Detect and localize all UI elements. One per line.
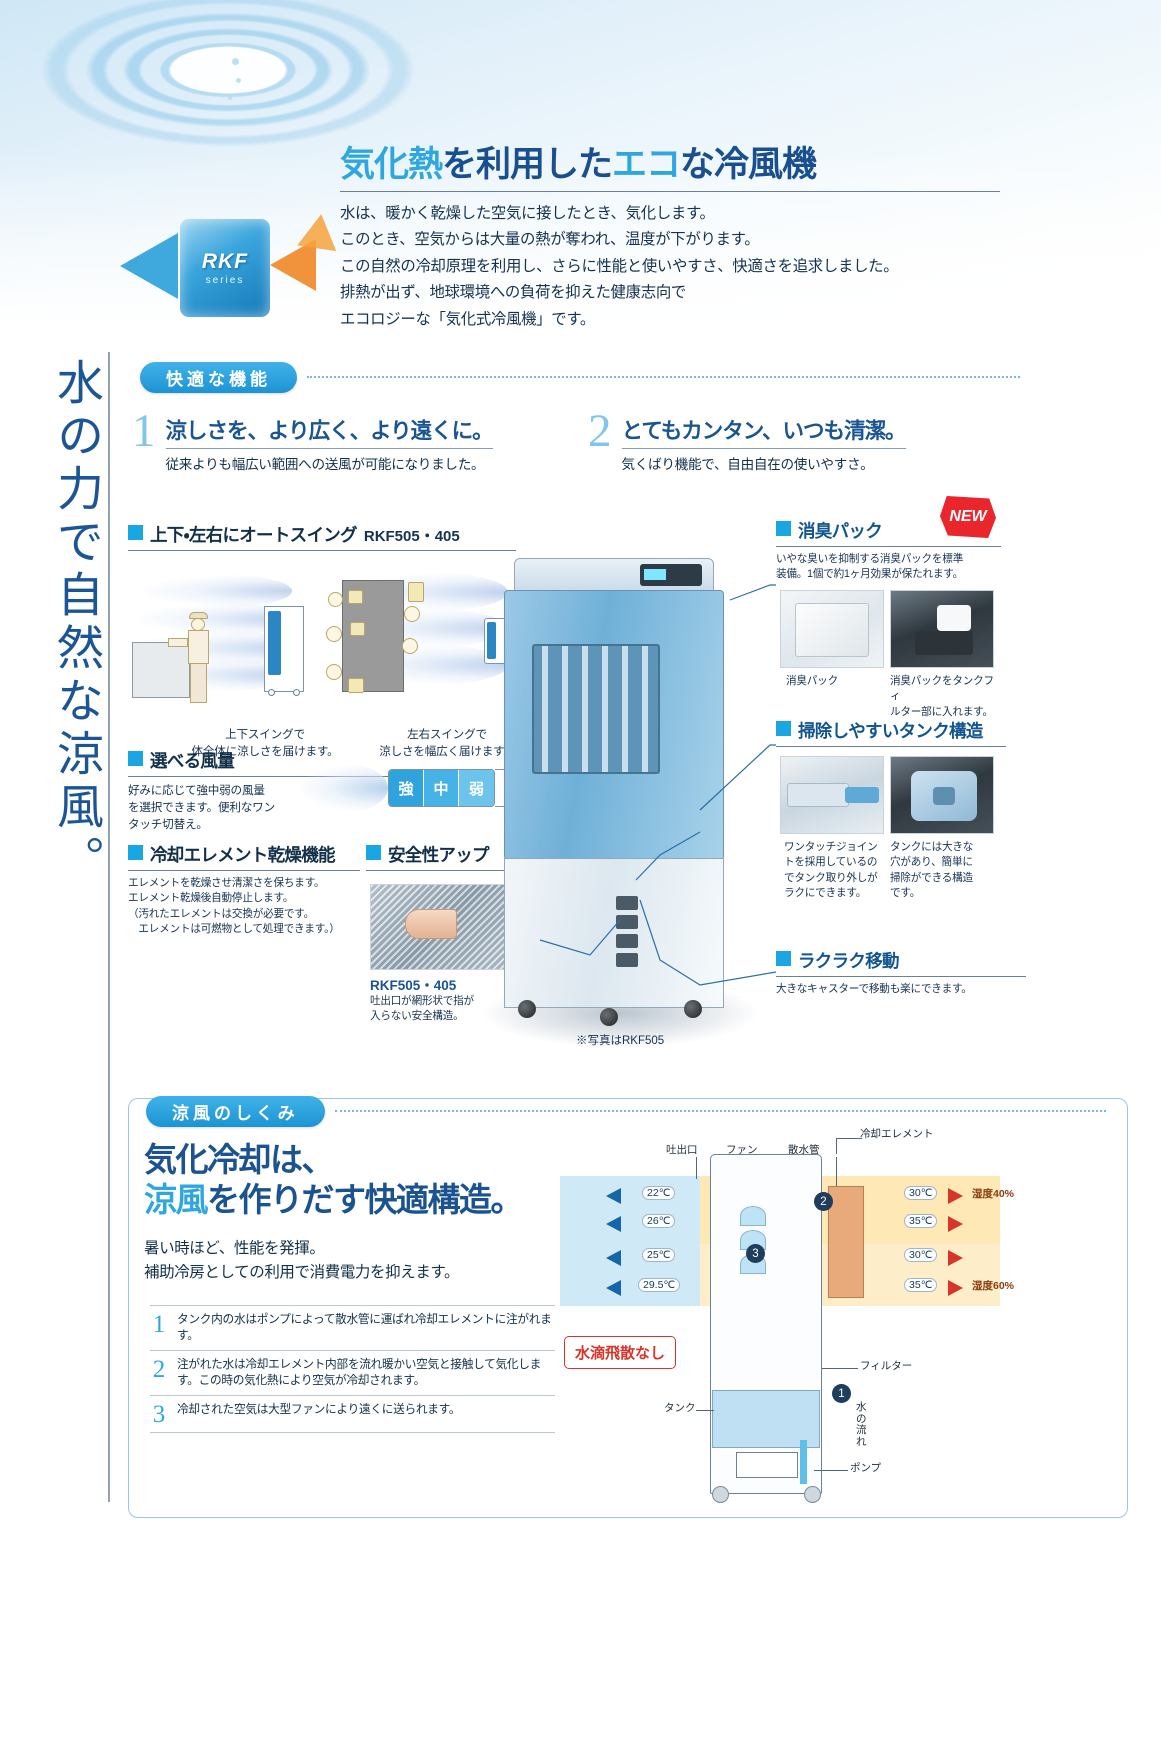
- feature-auto-swing: 上下・左右にオートスイング RKF505・405: [128, 522, 516, 551]
- warm-air-arrow: [948, 1250, 963, 1266]
- product-lower-body: [504, 858, 724, 1008]
- cool-air-arrow: [606, 1216, 621, 1232]
- feature-element-dry: 冷却エレメント乾燥機能 エレメントを乾燥させ清潔さを保ちます。 エレメント乾燥後…: [128, 842, 360, 937]
- feature-1-number: 1: [132, 412, 156, 473]
- mechanism-pill-label: 涼風のしくみ: [146, 1096, 325, 1127]
- fan-assembly: [736, 1206, 770, 1278]
- element-dry-body: エレメントを乾燥させ清潔さを保ちます。 エレメント乾燥後自動停止します。 （汚れ…: [128, 876, 360, 937]
- vertical-tagline: 水の力で自然な涼風。: [34, 358, 98, 978]
- mechanism-title: 気化冷却は、 涼風を作りだす快適構造。: [144, 1140, 564, 1221]
- warm-air-arrow: [948, 1280, 963, 1296]
- caption-line-1: タンクには大きな: [890, 840, 995, 855]
- water-pipe: [800, 1440, 807, 1484]
- cooler-unit-illustration: [264, 606, 304, 692]
- intake-temp-3: 30℃: [904, 1248, 937, 1262]
- ripple-dot: [236, 78, 241, 83]
- product-caster: [600, 1008, 618, 1026]
- blue-square-icon: [776, 951, 791, 966]
- circle-number-1: 1: [832, 1384, 851, 1403]
- cool-air-arrow: [606, 1250, 621, 1266]
- circle-number-3: 3: [746, 1244, 765, 1263]
- easy-move-body: 大きなキャスターで移動も楽にできます。: [776, 982, 1026, 997]
- tank-rule: [776, 746, 1006, 747]
- person-head-icon: [326, 626, 342, 642]
- mechanism-title-accent: 涼風: [144, 1181, 207, 1218]
- blue-arrow-icon: [120, 233, 178, 299]
- step-text: 注がれた水は冷却エレメント内部を流れ暖かい空気と接触して気化します。この時の気化…: [177, 1357, 555, 1390]
- leader-tick: [822, 1368, 858, 1369]
- step-text: 冷却された空気は大型ファンにより遠くに送られます。: [177, 1402, 460, 1418]
- safety-title: 安全性アップ: [388, 842, 489, 867]
- deodorizing-heading: 消臭パック: [776, 518, 1001, 543]
- numbered-feature-1: 1 涼しさを、より広く、より遠くに。 従来よりも幅広い範囲への送風が可能になりま…: [132, 412, 552, 473]
- tank-photo-caption-2: タンクには大きな 穴があり、簡単に 掃除ができる構造 です。: [890, 840, 995, 901]
- label-filter: フィルター: [860, 1358, 912, 1373]
- tank-joint-photo: [780, 756, 884, 834]
- body-line-1: 好みに応じて強中弱の風量: [128, 782, 313, 799]
- caption-line-1: 消臭パックをタンクフィ: [890, 674, 1000, 705]
- step-text: タンク内の水はポンプによって散水管に運ばれ冷却エレメントに注がれます。: [177, 1312, 555, 1345]
- intake-temp-4: 35℃: [904, 1278, 937, 1292]
- feature-1-subtitle: 従来よりも幅広い範囲への送風が可能になりました。: [166, 453, 493, 473]
- blue-square-icon: [128, 525, 143, 540]
- mechanism-lead-2: 補助冷房としての利用で消費電力を抑えます。: [144, 1261, 564, 1286]
- lead-line-3: この自然の冷却原理を利用し、さらに性能と使いやすさ、快適さを追求しました。: [340, 254, 1000, 280]
- label-tank: タンク: [664, 1400, 696, 1415]
- feature-1-underline: [166, 448, 493, 449]
- page-title: 気化熱を利用したエコな冷風機: [340, 136, 1000, 187]
- element-dry-rule: [128, 870, 360, 871]
- product-outlet-grill: [532, 644, 660, 774]
- body-line-1: いやな臭いを抑制する消臭パックを標準: [776, 552, 1001, 567]
- element-dry-heading: 冷却エレメント乾燥機能: [128, 842, 360, 867]
- person-head-icon: [326, 664, 342, 680]
- cooling-element: [828, 1186, 864, 1298]
- tank-title: 掃除しやすいタンク構造: [798, 718, 983, 743]
- product-caster: [518, 1000, 536, 1018]
- humidity-40: 湿度40%: [972, 1186, 1014, 1201]
- easy-move-title: ラクラク移動: [798, 948, 899, 973]
- cutaway-diagram: 吐出口 ファン 散水管 冷却エレメント 22℃ 26℃ 25℃ 29.5℃ 30…: [560, 1140, 1120, 1505]
- title-part-1: 気化熱: [340, 145, 442, 184]
- step-item: 3 冷却された空気は大型ファンにより遠くに送られます。: [150, 1395, 555, 1433]
- pump-body: [736, 1452, 798, 1478]
- blue-square-icon: [776, 521, 791, 536]
- blue-square-icon: [128, 845, 143, 860]
- intake-temp-2: 35℃: [904, 1214, 937, 1228]
- numbered-feature-2: 2 とてもカンタン、いつも清潔。 気くばり機能で、自由自在の使いやすさ。: [588, 412, 1008, 473]
- deodorizing-rule: [776, 546, 1001, 547]
- control-display: [640, 564, 702, 586]
- step-number: 3: [150, 1402, 168, 1427]
- deodorizing-body: いやな臭いを抑制する消臭パックを標準 装備。1個で約1ヶ月効果が保たれます。: [776, 552, 1001, 583]
- deodorizing-title: 消臭パック: [798, 518, 882, 543]
- feature-easy-move: ラクラク移動 大きなキャスターで移動も楽にできます。: [776, 948, 1026, 997]
- leader-tick: [814, 1470, 848, 1471]
- caster-icon: [293, 689, 300, 696]
- mechanism-steps: 1 タンク内の水はポンプによって散水管に運ばれ冷却エレメントに注がれます。 2 …: [150, 1305, 555, 1433]
- feature-deodorizing-pack: 消臭パック いやな臭いを抑制する消臭パックを標準 装備。1個で約1ヶ月効果が保た…: [776, 518, 1001, 583]
- lead-line-2: このとき、空気からは大量の熱が奪われ、温度が下がります。: [340, 227, 1000, 253]
- product-caster: [684, 1000, 702, 1018]
- feature-1-title: 涼しさを、より広く、より遠くに。: [166, 414, 493, 445]
- wind-level-buttons[interactable]: 強 中 弱: [388, 769, 495, 807]
- label-water-flow: 水の流れ: [856, 1402, 870, 1448]
- no-drip-note: 水滴飛散なし: [564, 1336, 676, 1369]
- feature-2-title: とてもカンタン、いつも清潔。: [622, 414, 906, 445]
- leader-tick: [836, 1138, 862, 1139]
- caption-line-4: です。: [890, 886, 995, 901]
- feature-2-underline: [622, 448, 906, 449]
- mechanism-title-line-2: を作りだす快適構造。: [207, 1181, 522, 1218]
- blue-square-icon: [776, 721, 791, 736]
- caption-line-2: 穴があり、簡単に: [890, 855, 995, 870]
- step-item: 1 タンク内の水はポンプによって散水管に運ばれ冷却エレメントに注がれます。: [150, 1305, 555, 1350]
- caster-icon: [268, 689, 275, 696]
- feature-2-number: 2: [588, 412, 612, 473]
- chair-icon: [348, 678, 364, 693]
- auto-swing-title: 上下・左右にオートスイング: [150, 522, 357, 547]
- wind-volume-body: 好みに応じて強中弱の風量 を選択できます。便利なワン タッチ切替え。: [128, 782, 313, 833]
- warm-air-arrow: [948, 1188, 963, 1204]
- features-section-header: 快適な機能: [140, 362, 1020, 393]
- vertical-swing-illustration: [132, 568, 312, 718]
- body-line-4: エレメントは可燃物として処理できます。）: [128, 922, 360, 937]
- dotted-rule: [335, 1110, 1106, 1112]
- page-headline: 気化熱を利用したエコな冷風機 水は、暖かく乾燥した空気に接したとき、気化します。…: [340, 136, 1000, 333]
- outlet-temp-4: 29.5℃: [638, 1278, 680, 1292]
- body-line-2: 装備。1個で約1ヶ月効果が保たれます。: [776, 567, 1001, 582]
- lead-line-4: 排熱が出ず、地球環境への負荷を抑えた健康志向で: [340, 280, 1000, 306]
- series-label: series: [206, 275, 245, 286]
- product-photo: [488, 548, 748, 1058]
- cooler-outlet: [268, 611, 281, 675]
- easy-move-heading: ラクラク移動: [776, 948, 1026, 973]
- auto-swing-heading: 上下・左右にオートスイング RKF505・405: [128, 522, 516, 547]
- product-photo-note: ※写真はRKF505: [576, 1032, 664, 1048]
- worker-figure: [184, 612, 214, 704]
- dotted-rule: [307, 376, 1020, 378]
- rkf-chip: RKF series: [180, 219, 270, 317]
- step-number: 2: [150, 1357, 168, 1382]
- body-line-3: タッチ切替え。: [128, 816, 313, 833]
- title-divider: [340, 191, 1000, 192]
- diagram-caster: [712, 1486, 729, 1503]
- airflow-cone-icon: [302, 764, 388, 812]
- title-part-4: な冷風機: [680, 145, 816, 184]
- feature-2-subtitle: 気くばり機能で、自由自在の使いやすさ。: [622, 453, 906, 473]
- chair-icon: [408, 582, 424, 602]
- body-line-2: エレメント乾燥後自動停止します。: [128, 891, 360, 906]
- caption-line-2: トを採用しているの: [784, 855, 884, 870]
- tank-photo-caption-1: ワンタッチジョイン トを採用しているの でタンク取り外しが ラクにできます。: [784, 840, 884, 901]
- workbench: [132, 642, 190, 698]
- lead-line-1: 水は、暖かく乾燥した空気に接したとき、気化します。: [340, 201, 1000, 227]
- chair-icon: [348, 590, 363, 604]
- pack-insert-photo: [890, 590, 994, 668]
- mechanism-section-header: 涼風のしくみ: [146, 1096, 1106, 1127]
- label-element: 冷却エレメント: [860, 1126, 934, 1141]
- wind-level-strong[interactable]: 強: [389, 770, 424, 806]
- tank-heading: 掃除しやすいタンク構造: [776, 718, 1006, 743]
- mechanism-title-line-1: 気化冷却は、: [144, 1140, 564, 1180]
- intake-temp-1: 30℃: [904, 1186, 937, 1200]
- caption-line-1: ワンタッチジョイン: [784, 840, 884, 855]
- body-line-1: エレメントを乾燥させ清潔さを保ちます。: [128, 876, 360, 891]
- outlet-temp-2: 26℃: [642, 1214, 675, 1228]
- circle-number-2: 2: [814, 1192, 833, 1211]
- chair-icon: [350, 622, 365, 636]
- lead-line-5: エコロジーな「気化式冷風機」です。: [340, 307, 1000, 333]
- auto-swing-model: RKF505・405: [364, 525, 460, 546]
- caption-line-3: 掃除ができる構造: [890, 871, 995, 886]
- diagram-caster: [804, 1486, 821, 1503]
- caption-line-3: でタンク取り外しが: [784, 871, 884, 886]
- caption-line-4: ラクにできます。: [784, 886, 884, 901]
- blue-square-icon: [366, 845, 381, 860]
- label-outlet: 吐出口: [666, 1142, 698, 1157]
- title-part-2: を利用した: [442, 145, 612, 184]
- auto-swing-rule: [128, 550, 516, 551]
- leader-tick: [836, 1157, 837, 1187]
- body-line-3: （汚れたエレメントは交換が必要です。: [128, 907, 360, 922]
- blue-square-icon: [128, 751, 143, 766]
- product-button-panel: [616, 896, 642, 978]
- caption-line-1: 上下スイングで: [190, 726, 340, 743]
- person-head-icon: [402, 638, 418, 654]
- rkf-series-badge: RKF series: [120, 215, 335, 325]
- cool-air-arrow: [606, 1188, 621, 1204]
- wind-level-medium[interactable]: 中: [424, 770, 459, 806]
- easy-move-rule: [776, 976, 1026, 977]
- warm-air-arrow: [948, 1216, 963, 1232]
- body-line-2: を選択できます。便利なワン: [128, 799, 313, 816]
- mechanism-intro: 気化冷却は、 涼風を作りだす快適構造。 暑い時ほど、性能を発揮。 補助冷房として…: [144, 1140, 564, 1286]
- pack-photo-caption-1: 消臭パック: [786, 674, 886, 689]
- person-head-icon: [328, 592, 343, 607]
- feature-tank-structure: 掃除しやすいタンク構造: [776, 718, 1006, 747]
- cool-air-arrow: [606, 1280, 621, 1296]
- person-head-icon: [404, 606, 420, 622]
- ripple-dot: [232, 58, 239, 65]
- wind-volume-title: 選べる風量: [150, 748, 234, 773]
- deodorizing-pack-photo: [780, 590, 884, 668]
- pack-photo-caption-2: 消臭パックをタンクフィ ルター部に入れます。: [890, 674, 1000, 720]
- label-pump: ポンプ: [850, 1460, 881, 1475]
- ripple-dot: [228, 96, 232, 100]
- features-pill-label: 快適な機能: [140, 362, 297, 393]
- leader-tick: [836, 1138, 837, 1154]
- title-part-3: エコ: [612, 145, 680, 184]
- step-item: 2 注がれた水は冷却エレメント内部を流れ暖かい空気と接触して気化します。この時の…: [150, 1350, 555, 1395]
- finger-illustration: [405, 909, 457, 939]
- leader-tick: [696, 1157, 697, 1179]
- outlet-temp-3: 25℃: [642, 1248, 675, 1262]
- outlet-temp-1: 22℃: [642, 1186, 675, 1200]
- step-number: 1: [150, 1312, 168, 1337]
- vertical-divider: [108, 352, 110, 1502]
- brand-label: RKF: [202, 250, 248, 274]
- humidity-60: 湿度60%: [972, 1278, 1014, 1293]
- mechanism-lead-1: 暑い時ほど、性能を発揮。: [144, 1237, 564, 1262]
- element-dry-title: 冷却エレメント乾燥機能: [150, 842, 335, 867]
- leader-tick: [696, 1410, 714, 1411]
- tank-hole-photo: [890, 756, 994, 834]
